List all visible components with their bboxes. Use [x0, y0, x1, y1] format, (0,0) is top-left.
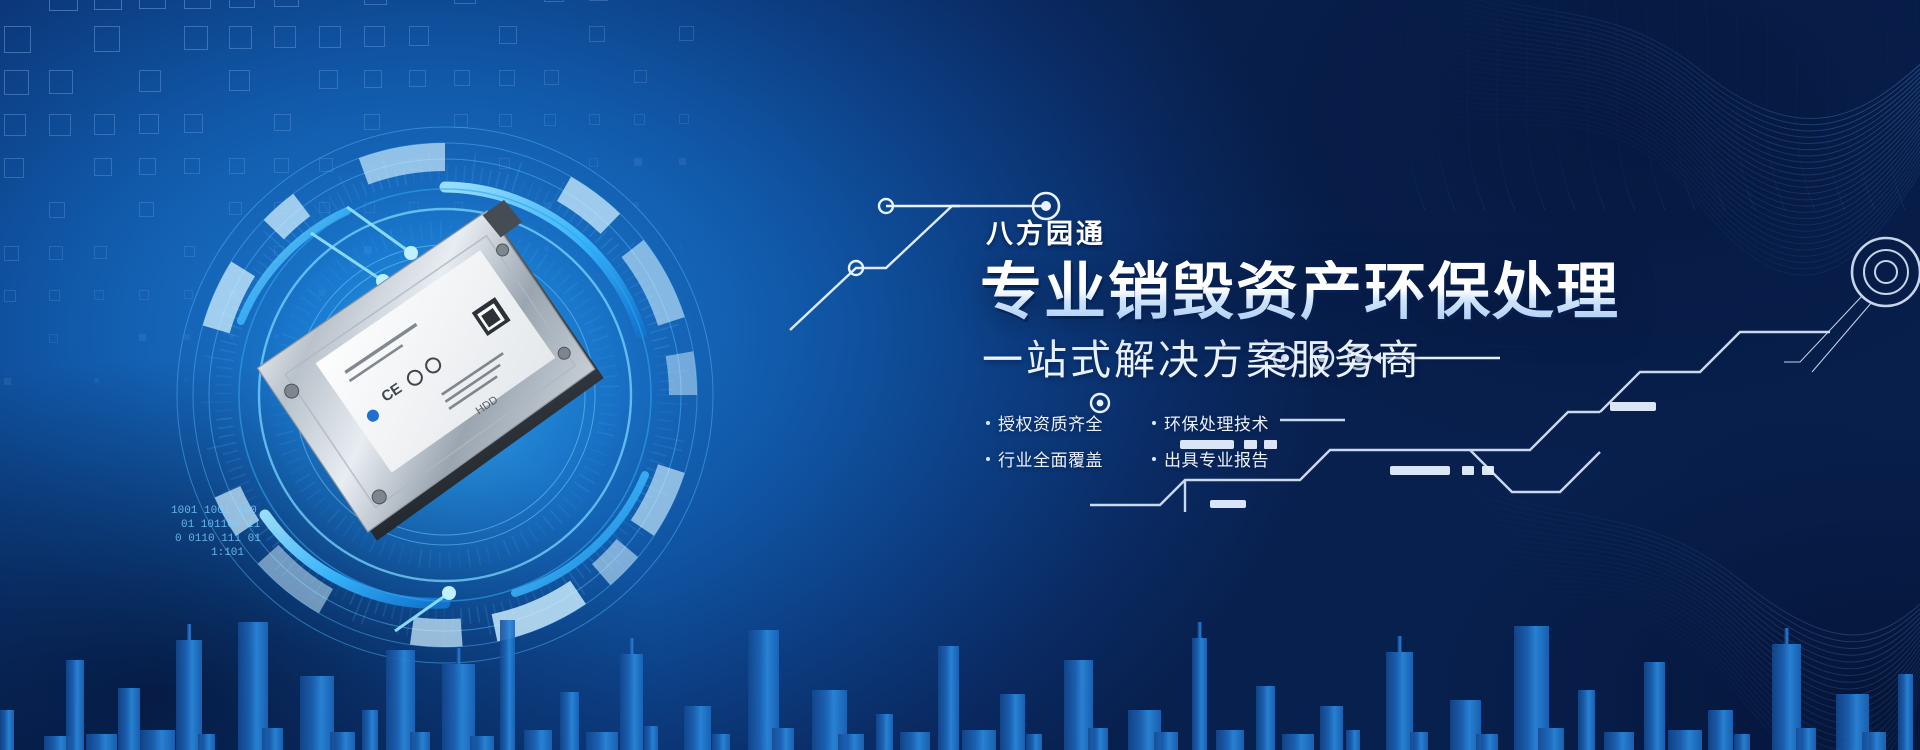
page-title: 专业销毁资产环保处理 — [980, 260, 1740, 326]
grid-square — [4, 114, 26, 136]
grid-square — [4, 378, 11, 385]
bullet-dot-icon — [986, 421, 990, 425]
grid-square — [319, 26, 341, 48]
grid-square — [49, 202, 65, 218]
grid-square — [364, 26, 385, 47]
building — [938, 646, 959, 750]
building — [362, 710, 378, 750]
building — [900, 732, 930, 750]
building — [644, 726, 658, 750]
grid-square — [544, 70, 559, 85]
brand-name: 八方园通 — [986, 212, 1740, 251]
building — [1320, 706, 1343, 750]
grid-square — [364, 0, 387, 5]
building — [1088, 728, 1108, 750]
grid-square — [94, 0, 122, 10]
grid-square — [49, 114, 71, 136]
feature-item: 环保处理技术 — [1152, 410, 1294, 435]
grid-square — [94, 290, 104, 300]
grid-square — [454, 0, 476, 4]
building — [1154, 732, 1178, 750]
building — [684, 706, 711, 750]
feature-item: 授权资质齐全 — [986, 410, 1128, 435]
grid-square — [49, 334, 58, 343]
feature-list: 授权资质齐全环保处理技术行业全面覆盖出具专业报告 — [986, 410, 1740, 471]
building — [1386, 652, 1413, 750]
grid-square — [94, 246, 107, 259]
building — [620, 654, 643, 750]
building — [1538, 728, 1564, 750]
grid-square — [274, 0, 299, 7]
feature-label: 行业全面覆盖 — [998, 446, 1103, 471]
building — [66, 660, 84, 750]
building — [1734, 734, 1750, 750]
building — [118, 688, 140, 750]
grid-square — [274, 26, 296, 48]
grid-square — [94, 26, 120, 52]
grid-square — [364, 70, 382, 88]
building — [1476, 734, 1498, 750]
building — [198, 734, 215, 750]
bullet-dot-icon — [986, 457, 990, 461]
building — [1026, 734, 1042, 750]
grid-square — [589, 0, 608, 1]
bullet-dot-icon — [1152, 421, 1156, 425]
grid-square — [4, 246, 19, 261]
building — [1346, 730, 1360, 750]
grid-square — [139, 0, 166, 9]
grid-square — [679, 26, 694, 41]
building — [470, 736, 494, 750]
building — [86, 734, 117, 750]
building — [140, 730, 175, 750]
grid-square — [319, 70, 338, 89]
grid-square — [499, 70, 515, 86]
building — [524, 730, 552, 750]
grid-square — [94, 158, 112, 176]
grid-square — [4, 290, 16, 302]
building — [176, 640, 202, 750]
building — [772, 728, 794, 750]
grid-square — [184, 26, 208, 50]
grid-square — [139, 70, 161, 92]
feature-label: 环保处理技术 — [1164, 410, 1269, 435]
grid-square — [94, 378, 99, 383]
feature-label: 授权资质齐全 — [998, 410, 1103, 435]
building — [1410, 732, 1428, 750]
building — [1578, 690, 1595, 750]
building — [560, 692, 579, 750]
grid-square — [544, 0, 564, 2]
city-skyline — [0, 520, 1920, 750]
building — [500, 620, 515, 750]
grid-square — [49, 0, 78, 11]
grid-square — [4, 26, 31, 53]
feature-label: 出具专业报告 — [1164, 446, 1269, 471]
building — [1192, 638, 1207, 750]
svg-text:1001 1001 100: 1001 1001 100 — [171, 505, 257, 517]
grid-square — [589, 26, 605, 42]
grid-square — [94, 114, 115, 135]
building — [1256, 686, 1275, 750]
bullet-dot-icon — [1152, 457, 1156, 461]
building — [410, 732, 430, 750]
building — [1708, 710, 1733, 750]
building — [1796, 728, 1816, 750]
building — [300, 676, 334, 750]
grid-square — [49, 246, 63, 260]
building — [1668, 730, 1702, 750]
building — [262, 728, 283, 750]
building — [1604, 732, 1634, 750]
building — [876, 714, 893, 750]
grid-square — [409, 26, 429, 46]
grid-square — [229, 70, 250, 91]
building — [838, 734, 864, 750]
grid-square — [634, 70, 647, 83]
grid-square — [499, 26, 517, 44]
grid-square — [4, 70, 29, 95]
headline-block: 八方园通 专业销毁资产环保处理 一站式解决方案服务商 授权资质齐全环保处理技术行… — [980, 212, 1740, 471]
grid-square — [49, 290, 60, 301]
grid-square — [184, 0, 211, 9]
building — [586, 732, 618, 750]
building — [712, 734, 730, 750]
building — [330, 732, 355, 750]
building — [1898, 674, 1913, 750]
building — [1644, 662, 1665, 750]
building — [1216, 730, 1244, 750]
grid-square — [229, 0, 255, 8]
building — [962, 730, 996, 750]
building — [1000, 694, 1025, 750]
page-subtitle: 一站式解决方案服务商 — [982, 336, 1740, 384]
grid-square — [229, 26, 252, 49]
grid-square — [4, 158, 24, 178]
feature-item: 行业全面覆盖 — [986, 446, 1128, 471]
feature-item: 出具专业报告 — [1152, 446, 1294, 471]
grid-square — [409, 70, 426, 87]
building — [1862, 732, 1886, 750]
promo-banner: 1001 1001 100 01 101100 11 0 0110 111 01… — [0, 0, 1920, 750]
building — [0, 710, 14, 750]
grid-square — [454, 70, 470, 86]
grid-square — [49, 70, 73, 94]
building — [1282, 734, 1314, 750]
